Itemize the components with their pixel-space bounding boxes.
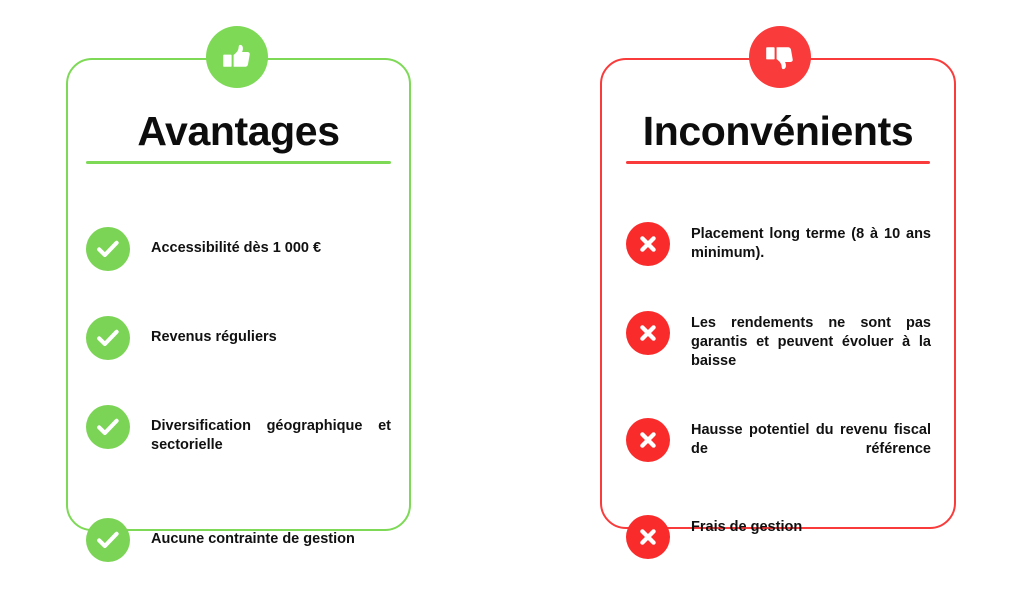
check-circle-icon	[86, 518, 130, 562]
cons-card-title: Inconvénients	[602, 108, 954, 155]
cons-list: Placement long terme (8 à 10 ans minimum…	[602, 176, 954, 559]
list-item-label: Les rendements ne sont pas garantis et p…	[691, 311, 931, 390]
pros-title-divider	[86, 161, 391, 164]
thumbs-down-icon	[749, 26, 811, 88]
cross-circle-icon	[626, 515, 670, 559]
pros-list: Accessibilité dès 1 000 € Revenus réguli…	[68, 176, 409, 562]
pros-card: Avantages Accessibilité dès 1 000 € Reve…	[66, 58, 411, 531]
cross-circle-icon	[626, 311, 670, 355]
list-item: Frais de gestion	[602, 515, 954, 559]
list-item-label: Frais de gestion	[691, 515, 931, 537]
list-item: Diversification géographique et sectorie…	[68, 405, 409, 474]
infographic-canvas: Avantages Accessibilité dès 1 000 € Reve…	[0, 0, 1024, 596]
thumbs-up-icon	[206, 26, 268, 88]
check-circle-icon	[86, 227, 130, 271]
list-item: Hausse potentiel du revenu fiscal de réf…	[602, 418, 954, 478]
list-item-label: Accessibilité dès 1 000 €	[151, 227, 391, 258]
list-item: Aucune contrainte de gestion	[68, 518, 409, 562]
cross-circle-icon	[626, 222, 670, 266]
list-item-label: Hausse potentiel du revenu fiscal de réf…	[691, 418, 931, 478]
list-item-label: Diversification géographique et sectorie…	[151, 405, 391, 474]
cons-card: Inconvénients Placement long terme (8 à …	[600, 58, 956, 529]
list-item-label: Aucune contrainte de gestion	[151, 518, 391, 549]
list-item-label: Revenus réguliers	[151, 316, 391, 347]
check-circle-icon	[86, 405, 130, 449]
list-item: Accessibilité dès 1 000 €	[68, 227, 409, 271]
cons-title-divider	[626, 161, 930, 164]
list-item-label: Placement long terme (8 à 10 ans minimum…	[691, 222, 931, 282]
list-item: Revenus réguliers	[68, 316, 409, 360]
list-item: Les rendements ne sont pas garantis et p…	[602, 311, 954, 390]
cross-circle-icon	[626, 418, 670, 462]
pros-card-title: Avantages	[68, 108, 409, 155]
list-item: Placement long terme (8 à 10 ans minimum…	[602, 222, 954, 282]
check-circle-icon	[86, 316, 130, 360]
